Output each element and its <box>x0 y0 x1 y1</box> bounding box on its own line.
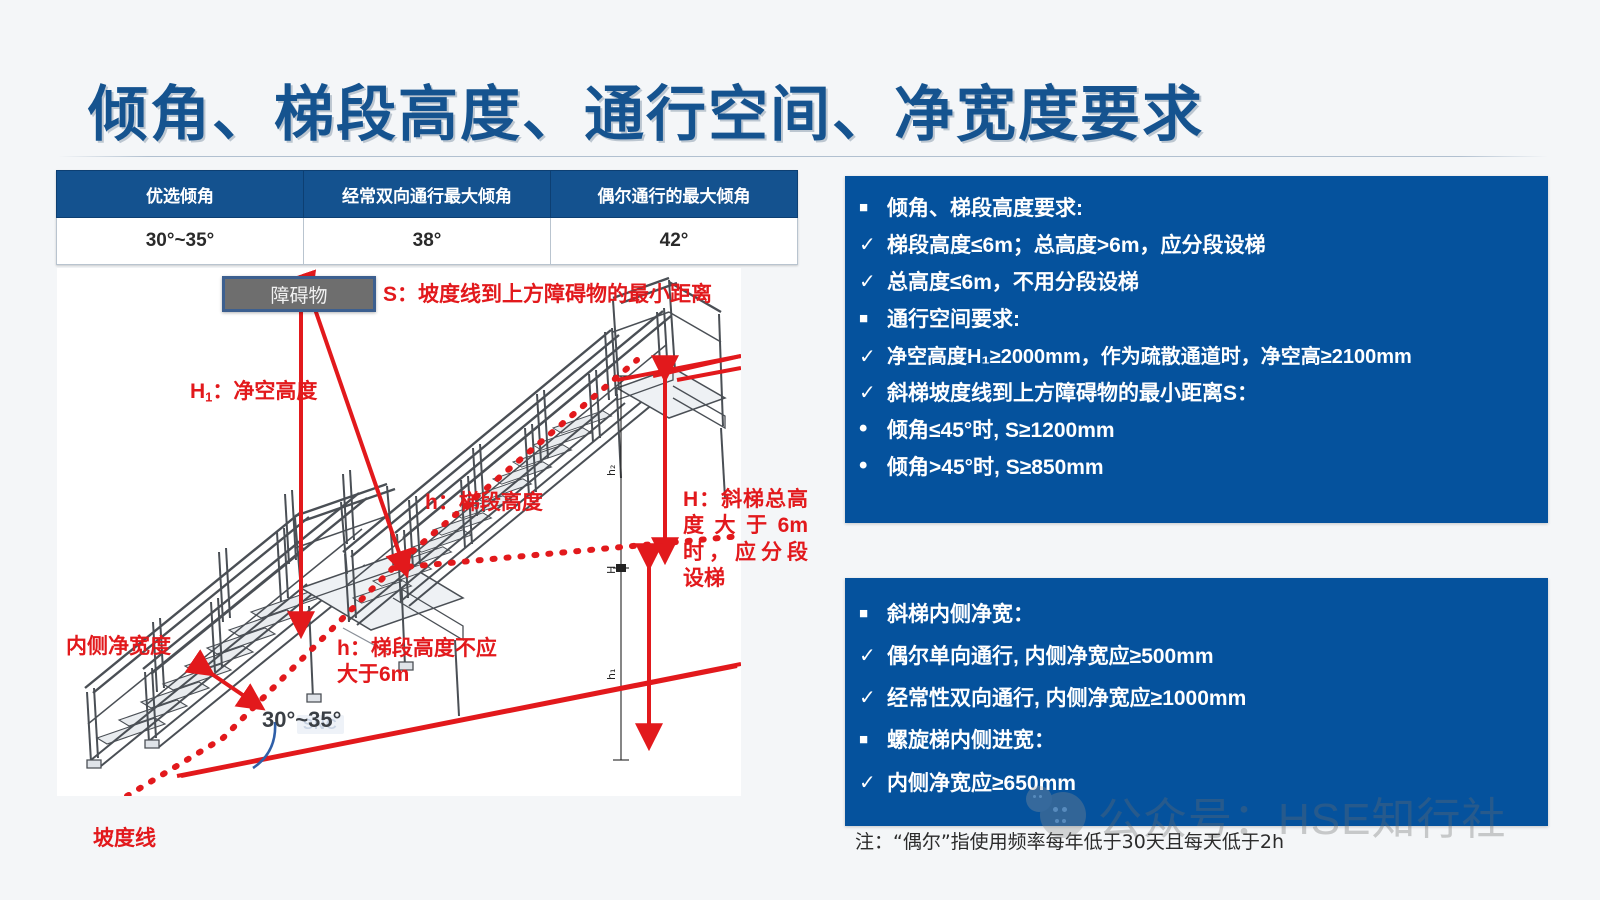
check-bullet-icon: ✓ <box>845 687 887 710</box>
table-header-cell: 优选倾角 <box>57 171 304 218</box>
table-header-cell: 偶尔通行的最大倾角 <box>551 171 798 218</box>
footnote: 注：“偶尔”指使用频率每年低于30天且每天低于2h <box>855 827 1284 854</box>
list-item: ■倾角、梯段高度要求: <box>845 197 1548 221</box>
table-cell: 30°~35° <box>57 218 304 265</box>
check-bullet-icon: ✓ <box>845 346 887 369</box>
dimension-label-h2: h₂ <box>605 465 618 476</box>
check-bullet-icon: ✓ <box>845 234 887 257</box>
table-header-row: 优选倾角 经常双向通行最大倾角 偶尔通行的最大倾角 <box>57 171 798 218</box>
stair-illustration-svg: h₂ H h₁ <box>57 268 741 796</box>
label-s-distance: S：坡度线到上方障碍物的最小距离 <box>383 282 712 308</box>
table-header-cell: 经常双向通行最大倾角 <box>304 171 551 218</box>
square-bullet-icon: ■ <box>845 197 887 220</box>
list-item: ■通行空间要求: <box>845 308 1548 332</box>
list-item: ✓偶尔单向通行, 内侧净宽应≥500mm <box>845 645 1548 669</box>
list-item: ✓经常性双向通行, 内侧净宽应≥1000mm <box>845 687 1548 711</box>
label-h-max-6m: h：梯段高度不应大于6m <box>337 636 512 689</box>
dimension-label-H: H <box>605 566 618 574</box>
label-angle-range: 30°~35° <box>262 707 341 733</box>
page-title: 倾角、梯段高度、通行空间、净宽度要求 <box>88 66 1204 153</box>
square-bullet-icon: ■ <box>845 603 887 626</box>
title-divider <box>58 156 1548 157</box>
label-h-total-height: H：斜梯总高度大于6m时，应分段设梯 <box>683 487 808 592</box>
table-cell: 42° <box>551 218 798 265</box>
requirements-panel-top: ■倾角、梯段高度要求: ✓梯段高度≤6m；总高度>6m，应分段设梯 ✓总高度≤6… <box>845 176 1548 523</box>
dimension-label-h1: h₁ <box>605 669 618 680</box>
list-item: ■螺旋梯内侧进宽： <box>845 729 1548 753</box>
dot-bullet-icon: • <box>845 456 887 476</box>
square-bullet-icon: ■ <box>845 308 887 331</box>
obstacle-label: 障碍物 <box>222 276 376 312</box>
angle-requirements-table: 优选倾角 经常双向通行最大倾角 偶尔通行的最大倾角 30°~35° 38° 42… <box>56 170 798 265</box>
list-item: ✓净空高度H₁≥2000mm，作为疏散通道时，净空高≥2100mm <box>845 346 1548 369</box>
arrow-inner-width <box>203 668 253 702</box>
square-bullet-icon: ■ <box>845 729 887 752</box>
requirements-panel-bottom: ■斜梯内侧净宽： ✓偶尔单向通行, 内侧净宽应≥500mm ✓经常性双向通行, … <box>845 578 1548 826</box>
check-bullet-icon: ✓ <box>845 382 887 405</box>
list-item: ✓梯段高度≤6m；总高度>6m，应分段设梯 <box>845 234 1548 258</box>
stair-diagram: h₂ H h₁ <box>57 268 741 796</box>
list-item: ✓总高度≤6m，不用分段设梯 <box>845 271 1548 295</box>
list-item: ✓斜梯坡度线到上方障碍物的最小距离S： <box>845 382 1548 406</box>
list-item: ✓内侧净宽应≥650mm <box>845 772 1548 796</box>
label-h1-headroom: H1：净空高度 <box>190 379 317 406</box>
table-cell: 38° <box>304 218 551 265</box>
check-bullet-icon: ✓ <box>845 271 887 294</box>
check-bullet-icon: ✓ <box>845 645 887 668</box>
table-row: 30°~35° 38° 42° <box>57 218 798 265</box>
check-bullet-icon: ✓ <box>845 772 887 795</box>
dot-bullet-icon: • <box>845 419 887 439</box>
list-item: •倾角>45°时, S≥850mm <box>845 456 1548 480</box>
label-inner-clear-width: 内侧净宽度 <box>66 634 171 660</box>
label-h-flight-height: h：梯段高度 <box>425 490 543 516</box>
list-item: •倾角≤45°时, S≥1200mm <box>845 419 1548 443</box>
label-slope-line: 坡度线 <box>93 826 156 852</box>
list-item: ■斜梯内侧净宽： <box>845 603 1548 627</box>
